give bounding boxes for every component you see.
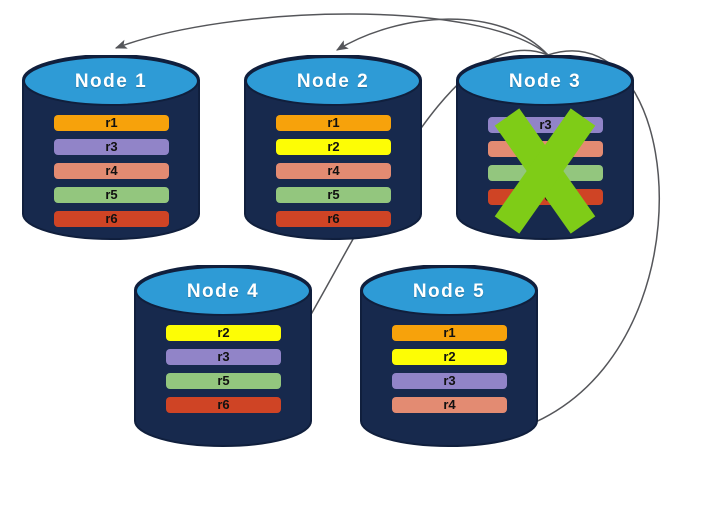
replica-bar-r5: r5 <box>488 165 603 181</box>
replica-bar-r1: r1 <box>54 115 169 131</box>
node-5-label: Node 5 <box>360 281 538 303</box>
replica-bar-r4: r4 <box>276 163 391 179</box>
node-4-replica-list: r2r3r5r6 <box>166 325 281 413</box>
replica-bar-r3: r3 <box>54 139 169 155</box>
replica-bar-r6: r6 <box>276 211 391 227</box>
replica-bar-r3: r3 <box>392 373 507 389</box>
node-4-label: Node 4 <box>134 281 312 303</box>
node-3-replica-list: r3r4r5r6 <box>488 117 603 205</box>
node-1-replica-list: r1r3r4r5r6 <box>54 115 169 227</box>
replica-bar-r4: r4 <box>488 141 603 157</box>
node-5-replica-list: r1r2r3r4 <box>392 325 507 413</box>
node-3-label: Node 3 <box>456 71 634 93</box>
replica-bar-r1: r1 <box>276 115 391 131</box>
replica-bar-r6: r6 <box>166 397 281 413</box>
replica-bar-r5: r5 <box>166 373 281 389</box>
arrow-node3-to-node2 <box>337 19 548 55</box>
node-1-label: Node 1 <box>22 71 200 93</box>
node-2[interactable]: Node 2 r1r2r4r5r6 <box>244 55 422 240</box>
node-5[interactable]: Node 5 r1r2r3r4 <box>360 265 538 447</box>
replica-bar-r2: r2 <box>166 325 281 341</box>
replica-bar-r3: r3 <box>166 349 281 365</box>
replica-bar-r3: r3 <box>488 117 603 133</box>
arrow-node3-to-node1 <box>116 14 548 55</box>
node-4[interactable]: Node 4 r2r3r5r6 <box>134 265 312 447</box>
replication-diagram: Node 1 r1r3r4r5r6 Node 2 r1r2r4r5r6 Node… <box>0 0 708 508</box>
node-1[interactable]: Node 1 r1r3r4r5r6 <box>22 55 200 240</box>
replica-bar-r5: r5 <box>276 187 391 203</box>
replica-bar-r4: r4 <box>392 397 507 413</box>
replica-bar-r5: r5 <box>54 187 169 203</box>
replica-bar-r1: r1 <box>392 325 507 341</box>
node-2-replica-list: r1r2r4r5r6 <box>276 115 391 227</box>
replica-bar-r4: r4 <box>54 163 169 179</box>
replica-bar-r2: r2 <box>392 349 507 365</box>
replica-bar-r2: r2 <box>276 139 391 155</box>
node-2-label: Node 2 <box>244 71 422 93</box>
replica-bar-r6: r6 <box>54 211 169 227</box>
node-3[interactable]: Node 3 r3r4r5r6 <box>456 55 634 240</box>
replica-bar-r6: r6 <box>488 189 603 205</box>
